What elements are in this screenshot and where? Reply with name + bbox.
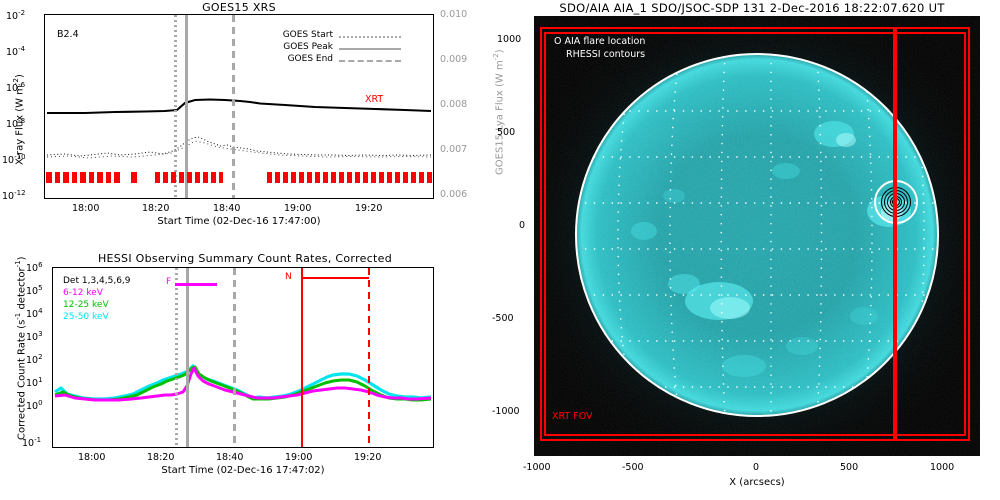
hessi-flag-n-bar (302, 277, 369, 279)
sun-xtick-0: -1000 (523, 462, 551, 473)
hessi-ytick-5-mant: 10 (26, 378, 38, 389)
hessi-y-axis-title: Corrected Count Rate (s-1 detector-1) (14, 256, 27, 440)
sun-header-title: SDO/AIA AIA_1 SDO/JSOC-SDP 131 2-Dec-201… (504, 1, 1000, 15)
hessi-ytick-4-exp: 2 (38, 353, 42, 361)
goes-ytick-1-exp: -4 (18, 45, 25, 53)
hessi-y-axis-title-exp2: -1 (14, 260, 22, 267)
hessi-flag-f-bar (175, 283, 217, 286)
sun-ytick-0: 1000 (497, 34, 521, 45)
hessi-ytick-6-mant: 10 (26, 401, 38, 412)
goes-xtick-0: 18:00 (72, 203, 99, 214)
goes-y2-axis-title-exp: -2 (492, 53, 500, 60)
hessi-xtick-3: 19:00 (285, 452, 312, 463)
sun-ytick-4: -1000 (492, 406, 520, 417)
goes-ytick-5-mant: 10 (2, 191, 14, 202)
goes-ytick-1-mant: 10 (6, 47, 18, 58)
hessi-goes-end-marker (233, 268, 236, 447)
hessi-ytick-3-mant: 10 (26, 332, 38, 343)
hessi-plot-area: Det 1,3,4,5,6,9 6-12 keV 12-25 keV 25-50… (52, 267, 434, 448)
goes-y2-axis-title-end: ) (494, 49, 505, 53)
hessi-xtick-0: 18:00 (78, 452, 105, 463)
sun-xtick-4: 1000 (930, 462, 954, 473)
hessi-ytick-1-mant: 10 (26, 286, 38, 297)
sun-xtick-1: -500 (622, 462, 644, 473)
hessi-band-1-label: 12-25 keV (63, 300, 109, 310)
hessi-ytick-6-exp: 0 (38, 399, 42, 407)
hessi-ytick-0-mant: 10 (26, 263, 38, 274)
hessi-ytick-5-exp: 1 (38, 376, 42, 384)
goes-x-axis-title: Start Time (02-Dec-16 17:47:00) (44, 216, 434, 227)
legend-goes-peak-swatch (339, 48, 401, 50)
hessi-ytick-0-exp: 6 (38, 261, 42, 269)
xrt-fov-divider-line (893, 27, 897, 441)
hessi-xtick-2: 18:40 (216, 452, 243, 463)
goes-y-axis-title-exp: -2 (12, 78, 20, 85)
hessi-y-axis-title-end: ) (16, 256, 27, 260)
hessi-night-end-marker (368, 268, 370, 447)
sun-x-axis-title: X (arcsecs) (534, 477, 980, 488)
hessi-band-0-label: 6-12 keV (63, 288, 103, 298)
hessi-ytick-7-exp: -1 (34, 436, 41, 444)
figure-root: GOES15 XRS B2.4 XRT GOES Start GOES Peak (0, 0, 1000, 500)
goes-xtick-4: 19:20 (355, 203, 382, 214)
hessi-panel-title: HESSI Observing Summary Count Rates, Cor… (30, 252, 460, 265)
xrt-annotation-label: XRT (365, 94, 383, 105)
goes-xtick-1: 18:20 (142, 203, 169, 214)
hessi-xtick-1: 18:20 (147, 452, 174, 463)
hessi-y-axis-title-exp: -1 (14, 313, 22, 320)
goes-ytick-5-exp: -12 (14, 189, 25, 197)
hessi-x-axis-title: Start Time (02-Dec-16 17:47:02) (52, 465, 434, 476)
goes-y2-axis-title: GOES15 Lya Flux (W m-2) (492, 49, 505, 175)
hessi-ytick-4-mant: 10 (26, 355, 38, 366)
goes-y2-axis-title-text: GOES15 Lya Flux (W m (494, 60, 505, 175)
goes-y-axis-title-text: X-ray Flux (W m (14, 85, 25, 165)
legend-goes-start-swatch (339, 36, 401, 38)
sun-xtick-3: 500 (840, 462, 858, 473)
hessi-xtick-4: 19:20 (354, 452, 381, 463)
goes-y2tick-1: 0.009 (440, 54, 467, 65)
hessi-flag-n-label: N (285, 272, 292, 282)
hessi-ytick-3-exp: 3 (38, 330, 42, 338)
goes-y2tick-0: 0.010 (440, 9, 467, 20)
hessi-y-axis-title-mid: detector (16, 267, 27, 312)
hessi-band-2-label: 25-50 keV (63, 312, 109, 322)
goes-xtick-3: 19:00 (284, 203, 311, 214)
goes-ytick-0-exp: -2 (18, 9, 25, 17)
legend-goes-end-swatch (339, 60, 401, 62)
goes-y2tick-2: 0.008 (440, 99, 467, 110)
goes-y2tick-4: 0.006 (440, 189, 467, 200)
hessi-ytick-2-exp: 4 (38, 307, 42, 315)
hessi-curves (53, 268, 433, 447)
aia-flare-location-legend: O AIA flare location (554, 36, 645, 47)
goes-ytick-0-mant: 10 (6, 11, 18, 22)
goes-panel-title: GOES15 XRS (44, 1, 434, 14)
goes-start-marker (174, 15, 177, 198)
hessi-goes-start-marker (175, 268, 178, 447)
goes-y-axis-title-end: ) (14, 74, 25, 78)
legend-goes-end-label: GOES End (223, 54, 333, 64)
sun-xtick-2: 0 (753, 462, 759, 473)
xrt-fov-label: XRT FOV (552, 411, 593, 422)
goes-xtick-2: 18:40 (213, 203, 240, 214)
rhessi-contours-legend: RHESSI contours (566, 49, 645, 60)
goes-class-label: B2.4 (57, 29, 79, 40)
hessi-flag-f-label: F (166, 277, 171, 287)
xrt-fov-box-inner (544, 32, 966, 436)
hessi-y-axis-title-text: Corrected Count Rate (s (16, 320, 27, 440)
legend-goes-start-label: GOES Start (223, 30, 333, 40)
goes-y2tick-3: 0.007 (440, 144, 467, 155)
hessi-detector-label: Det 1,3,4,5,6,9 (63, 276, 131, 286)
goes-y-axis-title: X-ray Flux (W m-2) (12, 74, 25, 165)
sun-ytick-1: 500 (497, 127, 515, 138)
sun-image-area: O AIA flare location RHESSI contours XRT… (534, 16, 980, 456)
goes-peak-marker (185, 15, 188, 198)
legend-goes-peak-label: GOES Peak (223, 42, 333, 52)
hessi-ytick-2-mant: 10 (26, 309, 38, 320)
hessi-night-start-marker (301, 268, 303, 447)
hessi-goes-peak-marker (186, 268, 189, 447)
sun-ytick-3: -500 (492, 313, 514, 324)
sun-ytick-2: 0 (519, 220, 525, 231)
hessi-ytick-1-exp: 5 (38, 284, 42, 292)
goes-plot-area: B2.4 XRT GOES Start GOES Peak GOES End (44, 14, 434, 199)
